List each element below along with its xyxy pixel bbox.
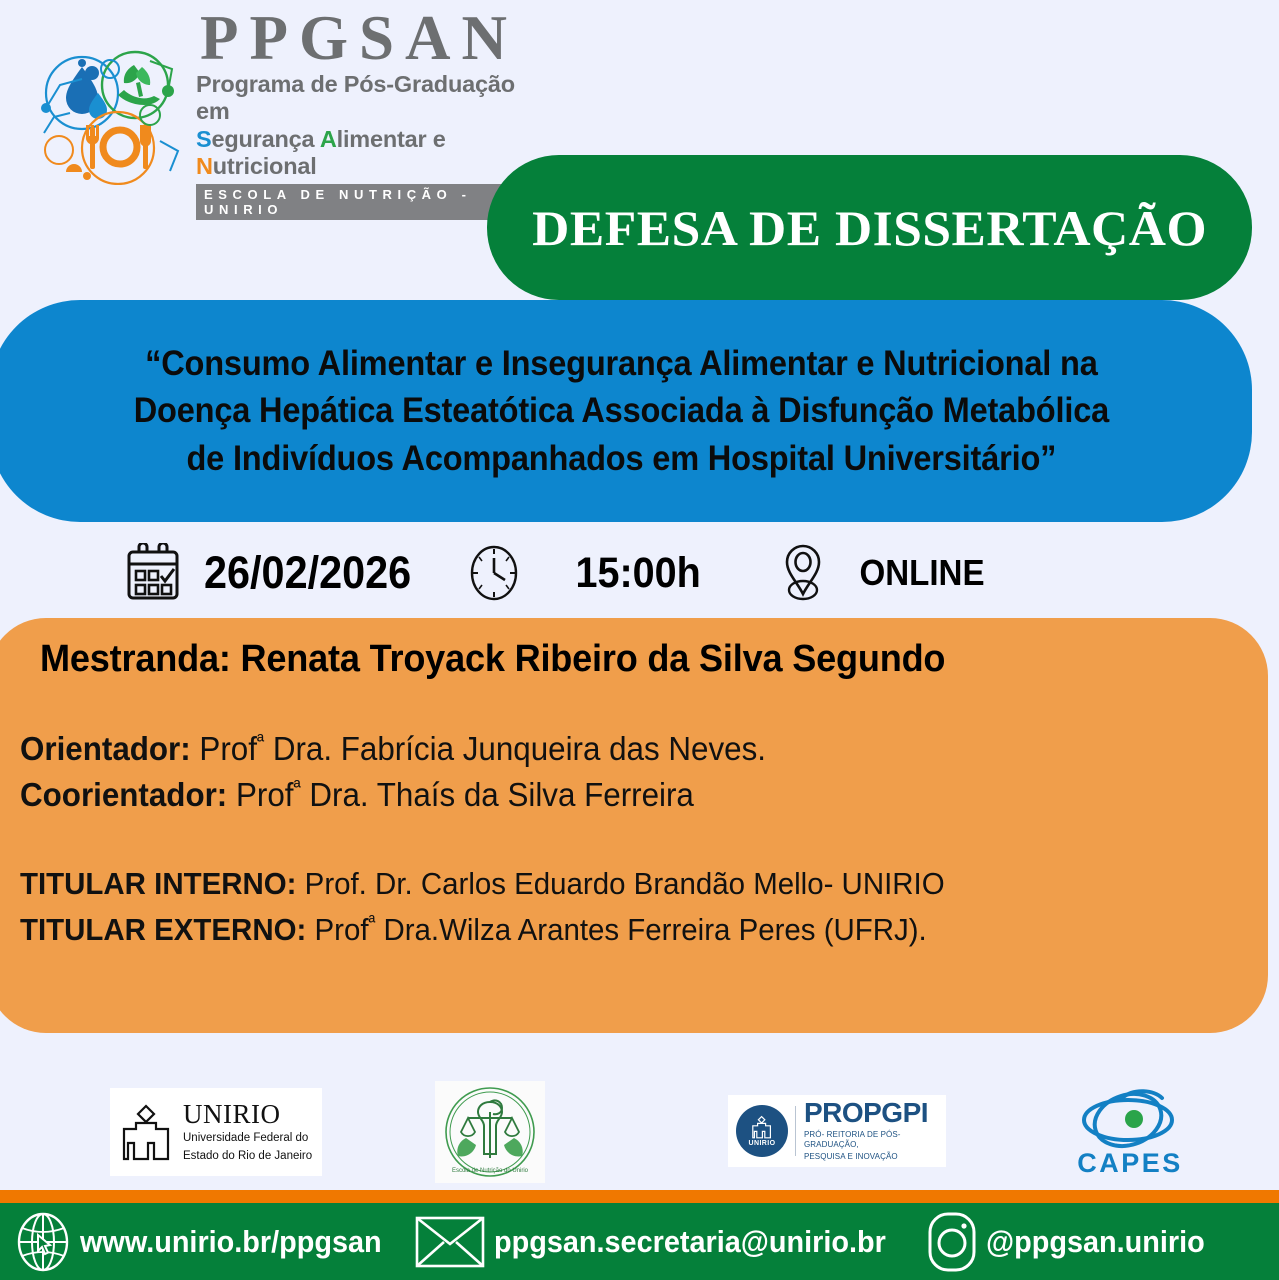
ppgsan-alimentar-rest: limentar e [337, 126, 446, 152]
instagram-contact[interactable]: @ppgsan.unirio [924, 1210, 1221, 1274]
advisors-group: Orientador: Profª Dra. Fabrícia Junqueir… [20, 726, 1230, 817]
capes-mark-icon [1070, 1088, 1190, 1150]
unirio-logo: UNIRIO Universidade Federal do Estado do… [110, 1088, 322, 1176]
external-member-line: TITULAR EXTERNO: Profª Dra.Wilza Arantes… [20, 907, 1179, 953]
unirio-text: UNIRIO Universidade Federal do Estado do… [183, 1101, 312, 1162]
event-place-text: ONLINE [860, 552, 985, 594]
event-place: ONLINE [778, 542, 990, 604]
email-text: ppgsan.secretaria@unirio.br [494, 1224, 886, 1260]
nutrition-school-seal: Escola de Nutrição do Unirio [435, 1081, 545, 1183]
coadvisor-line: Coorientador: Profª Dra. Thaís da Silva … [20, 772, 1170, 818]
instagram-text: @ppgsan.unirio [986, 1224, 1205, 1260]
event-time: 15:00h [468, 544, 706, 602]
ppgsan-subtitle-2: Segurança Alimentar e Nutricional [196, 126, 530, 180]
partner-logos-row: UNIRIO Universidade Federal do Estado do… [0, 1075, 1279, 1190]
advisor-name-pre: Prof [199, 730, 257, 767]
external-member-name-pre: Prof [315, 912, 369, 947]
ppgsan-acronym: PPGSAN [200, 9, 530, 69]
ppgsan-logo-text: PPGSAN Programa de Pós-Graduação em Segu… [196, 9, 530, 221]
instagram-icon [924, 1210, 980, 1274]
capes-name: CAPES [1077, 1148, 1183, 1179]
advisor-name-post: Dra. Fabrícia Junqueira das Neves. [264, 730, 766, 767]
external-member-name-post: Dra.Wilza Arantes Ferreira Peres (UFRJ). [375, 912, 926, 947]
propgpi-divider [795, 1106, 796, 1156]
thesis-title-block: “Consumo Alimentar e Insegurança Aliment… [0, 300, 1252, 522]
propgpi-badge-label: UNIRIO [749, 1140, 776, 1147]
event-date: 26/02/2026 [125, 543, 420, 603]
calendar-icon [125, 543, 181, 603]
unirio-badge-icon [749, 1115, 775, 1139]
ppgsan-n-letter: N [196, 153, 213, 179]
propgpi-logo: UNIRIO PROPGPI PRÓ- REITORIA DE PÓS-GRAD… [728, 1095, 946, 1167]
thesis-title-line-3: de Indivíduos Acompanhados em Hospital U… [133, 435, 1108, 483]
student-line: Mestranda: Renata Troyack Ribeiro da Sil… [40, 638, 945, 681]
ppgsan-s-letter: S [196, 126, 211, 152]
internal-member-name: Prof. Dr. Carlos Eduardo Brandão Mello- … [305, 866, 945, 901]
thesis-title-text: “Consumo Alimentar e Insegurança Aliment… [94, 340, 1147, 483]
internal-member-line: TITULAR INTERNO: Prof. Dr. Carlos Eduard… [20, 861, 1179, 907]
external-member-label: TITULAR EXTERNO: [20, 912, 306, 947]
envelope-icon [414, 1213, 486, 1271]
unirio-sub-2: Estado do Rio de Janeiro [183, 1149, 312, 1163]
event-info-row: 26/02/2026 15:00h [0, 528, 1279, 618]
ppgsan-logo-mark [30, 45, 190, 185]
advisor-line: Orientador: Profª Dra. Fabrícia Junqueir… [20, 726, 1170, 772]
nutrition-school-seal-icon: Escola de Nutrição do Unirio [442, 1084, 538, 1180]
ppgsan-seguranca-rest: egurança [211, 126, 319, 152]
ppgsan-logo: PPGSAN Programa de Pós-Graduação em Segu… [30, 42, 530, 187]
examination-board-group: TITULAR INTERNO: Prof. Dr. Carlos Eduard… [20, 861, 1240, 953]
external-member-name-ordinal: ª [369, 913, 376, 934]
propgpi-sub-2: PESQUISA E INOVAÇÃO [804, 1152, 946, 1162]
email-contact[interactable]: ppgsan.secretaria@unirio.br [414, 1213, 915, 1271]
ppgsan-emblem-icon [30, 45, 190, 185]
propgpi-text: PROPGPI PRÓ- REITORIA DE PÓS-GRADUAÇÃO, … [804, 1100, 946, 1162]
event-time-text: 15:00h [576, 549, 701, 598]
thesis-title-line-1: “Consumo Alimentar e Insegurança Aliment… [133, 340, 1108, 388]
coadvisor-name-pre: Prof [236, 776, 294, 813]
ppgsan-school-band: ESCOLA DE NUTRIÇÃO - UNIRIO [196, 184, 530, 220]
website-text: www.unirio.br/ppgsan [80, 1224, 382, 1260]
people-block: Mestranda: Renata Troyack Ribeiro da Sil… [0, 618, 1268, 1033]
clock-icon [468, 544, 520, 602]
unirio-sub-1: Universidade Federal do [183, 1131, 312, 1145]
advisor-name-ordinal: ª [257, 730, 264, 753]
thesis-title-line-2: Doença Hepática Esteatótica Associada à … [133, 387, 1108, 435]
internal-member-label: TITULAR INTERNO: [20, 866, 296, 901]
capes-logo: CAPES [1060, 1083, 1200, 1183]
ppgsan-subtitle-1: Programa de Pós-Graduação em [196, 71, 530, 125]
website-contact[interactable]: www.unirio.br/ppgsan [14, 1211, 404, 1273]
location-pin-icon [778, 542, 828, 604]
ppgsan-nutricional-rest: utricional [213, 153, 317, 179]
contact-footer: www.unirio.br/ppgsan ppgsan.secretaria@u… [0, 1203, 1279, 1280]
advisor-label: Orientador: [20, 730, 191, 767]
ppgsan-a-letter: A [320, 126, 337, 152]
propgpi-sub-1: PRÓ- REITORIA DE PÓS-GRADUAÇÃO, [804, 1130, 946, 1150]
unirio-mark-icon [118, 1102, 176, 1162]
seal-caption: Escola de Nutrição do Unirio [452, 1168, 529, 1174]
coadvisor-name-post: Dra. Thaís da Silva Ferreira [301, 776, 694, 813]
globe-icon [14, 1211, 72, 1273]
propgpi-name: PROPGPI [804, 1100, 946, 1127]
coadvisor-label: Coorientador: [20, 776, 227, 813]
unirio-name: UNIRIO [183, 1101, 312, 1128]
poster-canvas: PPGSAN Programa de Pós-Graduação em Segu… [0, 0, 1279, 1280]
defense-type-banner: DEFESA DE DISSERTAÇÃO [487, 155, 1252, 300]
footer-accent-strip [0, 1190, 1279, 1203]
propgpi-unirio-badge: UNIRIO [736, 1105, 788, 1157]
event-date-text: 26/02/2026 [204, 547, 411, 599]
defense-type-label: DEFESA DE DISSERTAÇÃO [532, 199, 1207, 257]
